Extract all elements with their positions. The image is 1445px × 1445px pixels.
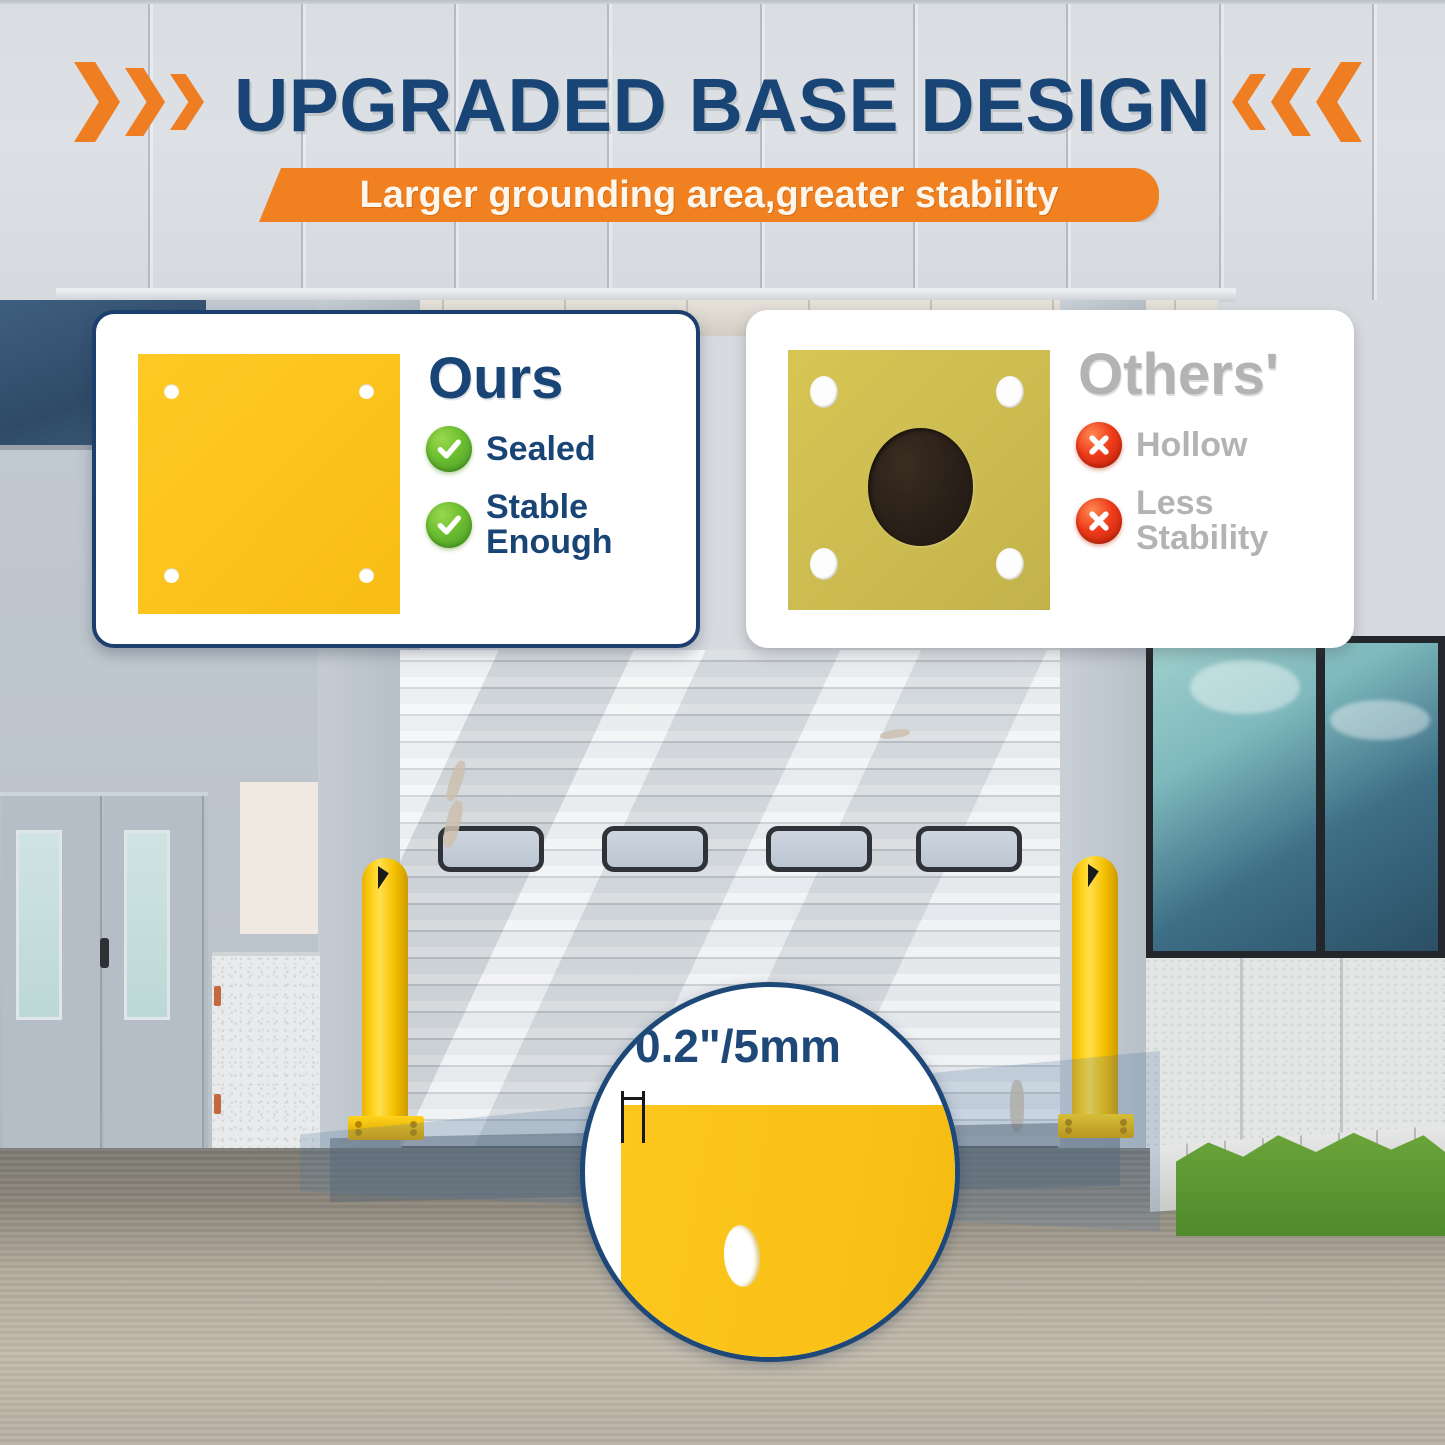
bollard-hazard-stripe [1088, 864, 1116, 908]
concrete-plinth [1146, 958, 1445, 1148]
wall-stone-panel [212, 952, 320, 1160]
comparison-card-others: Others' Hollow Less Stability [746, 310, 1354, 648]
door-handle-icon [100, 938, 109, 968]
bolt-slot [996, 548, 1024, 580]
bolt-slot [810, 548, 838, 580]
window-reflection [1190, 660, 1300, 714]
others-text-column: Others' Hollow Less Stability [1076, 338, 1338, 620]
rust-mark [214, 986, 221, 1006]
magnified-plate-edge [621, 1105, 960, 1362]
subtitle-text: Larger grounding area,greater stability [259, 168, 1159, 222]
roof-edge-trim [0, 0, 1445, 4]
page-title: UPGRADED BASE DESIGN [0, 62, 1445, 148]
wall-white-panel [240, 782, 318, 934]
others-feature-label: Hollow [1136, 428, 1247, 463]
bolt-hole [359, 568, 374, 583]
window-mullion [1316, 636, 1325, 958]
plinth-seam [1340, 958, 1343, 1148]
others-feature-label-stacked: Less Stability [1136, 486, 1268, 555]
bolt-hole [359, 384, 374, 399]
chevron-left-icon [1232, 74, 1266, 130]
ours-feature-label: Sealed [486, 432, 596, 467]
bolt-slot [810, 376, 838, 408]
others-feature-less-stability: Less Stability [1076, 486, 1338, 555]
magnified-bolt-hole [722, 1224, 762, 1288]
ours-base-plate-image [138, 354, 400, 614]
check-circle-icon [426, 426, 472, 472]
chevron-left-icon [1316, 62, 1362, 142]
rust-mark [214, 1094, 221, 1114]
others-feature-line1: Less [1136, 484, 1214, 522]
others-label: Others' [1078, 346, 1338, 404]
roller-door-window [916, 826, 1022, 872]
window-reflection [1330, 700, 1430, 740]
others-feature-line2: Stability [1136, 519, 1268, 557]
bolt-hole [164, 568, 179, 583]
ours-feature-stable: Stable Enough [426, 490, 688, 559]
x-circle-icon [1076, 422, 1122, 468]
bollard-base-plate [1058, 1114, 1134, 1138]
ours-label: Ours [428, 350, 688, 408]
door-glass-left [16, 830, 62, 1020]
infographic-canvas: UPGRADED BASE DESIGN Larger grounding ar… [0, 0, 1445, 1445]
ours-feature-label-stacked: Stable Enough [486, 490, 613, 559]
hollow-center-hole [868, 428, 973, 546]
x-circle-icon [1076, 498, 1122, 544]
bolt-slot [996, 376, 1024, 408]
upper-facade-wall [0, 0, 1445, 300]
ours-text-column: Ours Sealed Stable Enough [426, 342, 688, 624]
chevron-left-icon [1271, 68, 1311, 136]
bollard-hazard-stripe [378, 866, 406, 910]
roller-door-window [766, 826, 872, 872]
ours-feature-line2: Enough [486, 523, 613, 561]
subtitle-banner: Larger grounding area,greater stability [259, 168, 1159, 222]
ours-feature-sealed: Sealed [426, 426, 688, 472]
bolt-hole [164, 384, 179, 399]
thickness-magnifier-callout: 0.2"/5mm [580, 982, 960, 1362]
thickness-measurement-label: 0.2"/5mm [635, 1019, 841, 1073]
others-base-plate-image [788, 350, 1050, 610]
comparison-card-ours: Ours Sealed Stable Enough [92, 310, 700, 648]
ours-feature-line1: Stable [486, 488, 588, 526]
others-feature-hollow: Hollow [1076, 422, 1338, 468]
chevrons-right-group [1232, 62, 1362, 142]
door-glass-right [124, 830, 170, 1020]
check-circle-icon [426, 502, 472, 548]
plinth-seam [1240, 958, 1243, 1148]
bollard-base-plate [348, 1116, 424, 1140]
thickness-caliper-icon [621, 1091, 645, 1143]
roller-door-window [602, 826, 708, 872]
